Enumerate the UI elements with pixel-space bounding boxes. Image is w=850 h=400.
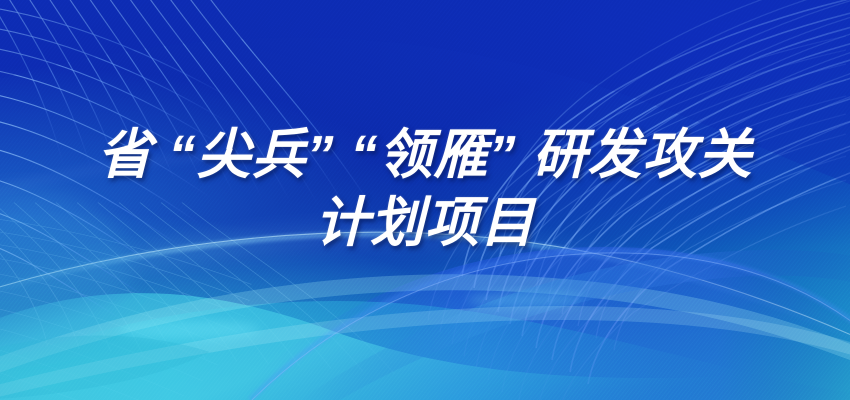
title-line-2: 计划项目 bbox=[0, 194, 850, 252]
wave-ribbons-graphic bbox=[0, 247, 850, 400]
banner-title: 省 “尖兵” “领雁” 研发攻关 计划项目 bbox=[0, 126, 850, 252]
title-line-1: 省 “尖兵” “领雁” 研发攻关 bbox=[0, 126, 850, 184]
banner-container: 省 “尖兵” “领雁” 研发攻关 计划项目 bbox=[0, 0, 850, 400]
teal-wedge bbox=[0, 336, 210, 400]
